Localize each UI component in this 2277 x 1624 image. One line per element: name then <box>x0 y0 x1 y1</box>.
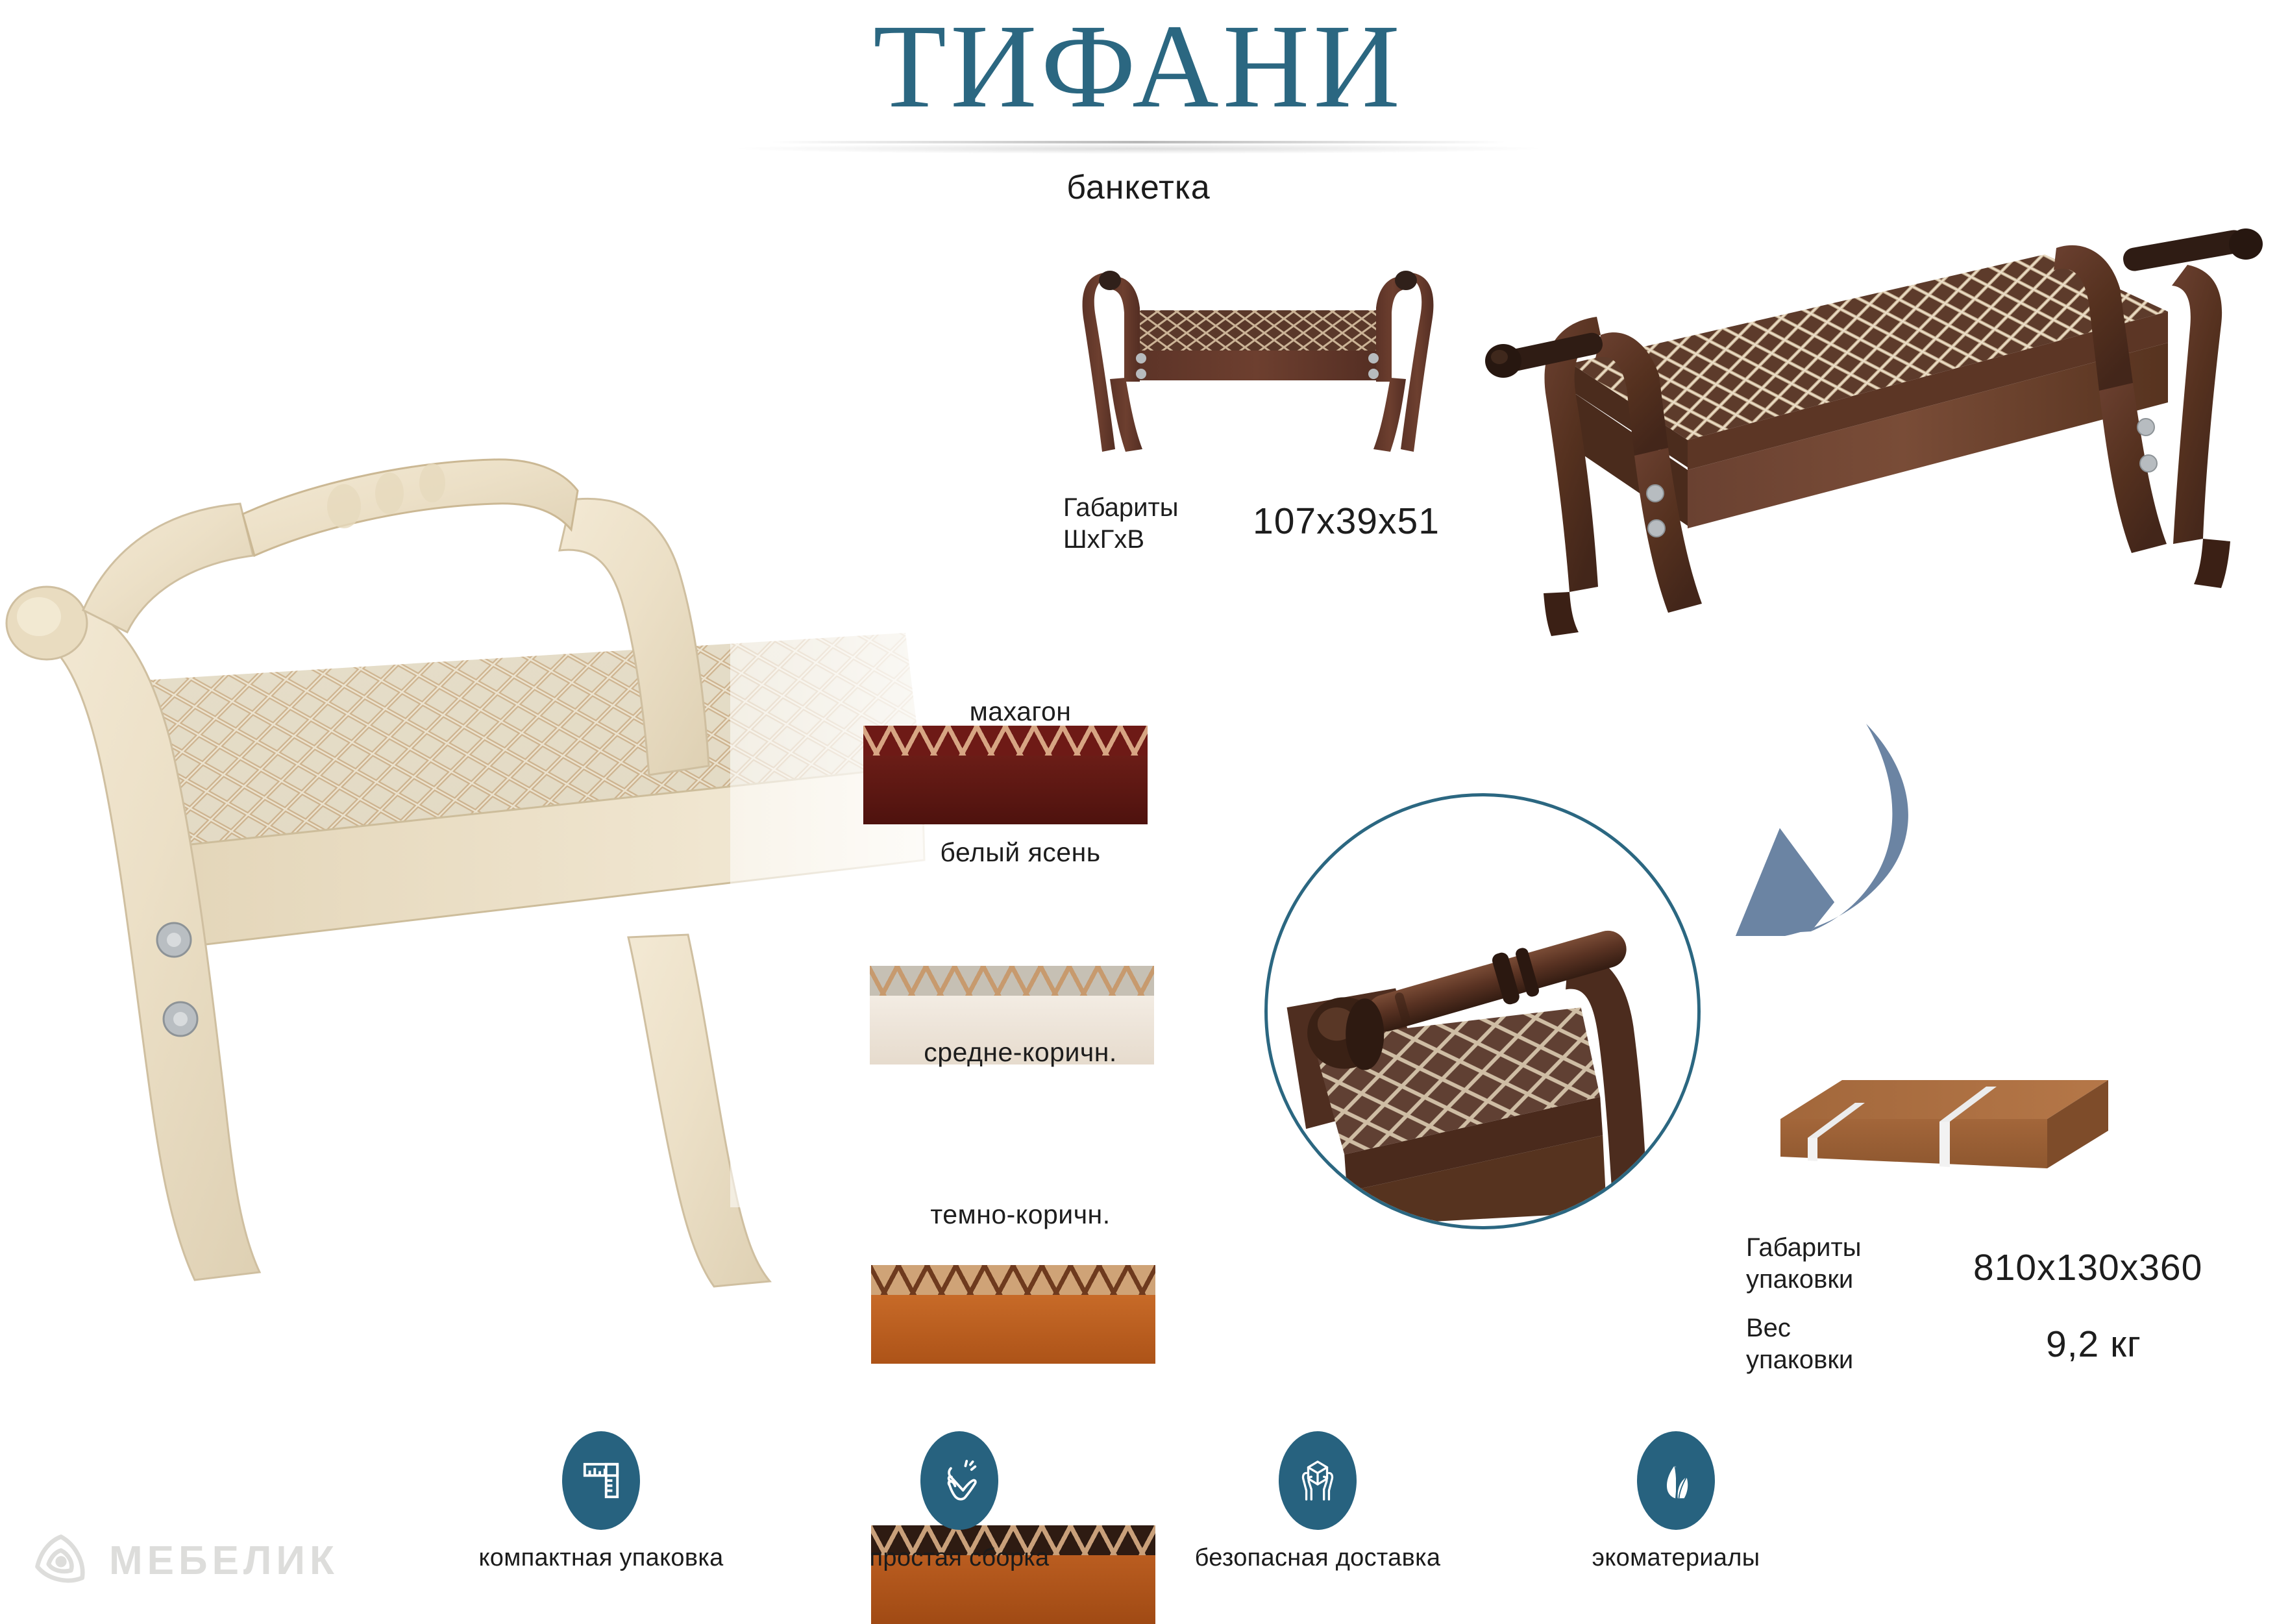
brand-name: МЕБЕЛИК <box>109 1538 339 1584</box>
trefoil-knot-icon <box>30 1529 92 1592</box>
finish-label-0: махагон <box>878 696 1163 727</box>
finish-fabric-1 <box>870 966 1154 996</box>
product-dimensions-value: 107x39x51 <box>1253 500 1440 543</box>
feature-label-2: безопасная доставка <box>1188 1544 1447 1572</box>
title-divider-shadow <box>739 143 1538 154</box>
finish-label-3: темно-коричн. <box>878 1200 1163 1230</box>
finish-fabric-2 <box>871 1265 1155 1295</box>
detail-closeup-circle <box>1264 793 1701 1229</box>
finish-fabric-0 <box>863 726 1148 756</box>
package-dimensions-value: 810x130x360 <box>1973 1246 2202 1289</box>
product-dimensions-label-line2: ШхГхВ <box>1063 524 1277 556</box>
feature-safe-delivery[interactable]: безопасная доставка <box>1188 1431 1447 1572</box>
hands-holding-box-icon <box>1279 1431 1357 1530</box>
curved-arrow-icon <box>1707 707 2012 1026</box>
package-dimensions-label: Габариты упаковки <box>1746 1232 1960 1296</box>
feature-eco-materials[interactable]: экоматериалы <box>1546 1431 1806 1572</box>
product-dimensions-label: Габариты ШхГхВ <box>1063 492 1277 556</box>
package-weight-label-line2: упаковки <box>1746 1344 1960 1376</box>
image-fade-overlay <box>730 571 1003 1207</box>
product-dimensions-label-line1: Габариты <box>1063 492 1277 524</box>
finish-swatch-2[interactable] <box>871 1265 1155 1364</box>
feature-label-3: экоматериалы <box>1546 1544 1806 1572</box>
feature-easy-assembly[interactable]: простая сборка <box>830 1431 1089 1572</box>
finish-wood-2 <box>871 1295 1155 1364</box>
front-view-bench-image <box>1070 254 1446 469</box>
brand-logo[interactable]: МЕБЕЛИК <box>30 1529 339 1592</box>
leaves-icon <box>1637 1431 1715 1530</box>
package-dimensions-label-line2: упаковки <box>1746 1264 1960 1296</box>
finger-snap-icon <box>920 1431 998 1530</box>
page-title: ТИФАНИ <box>0 6 2277 127</box>
feature-label-1: простая сборка <box>830 1544 1089 1572</box>
feature-row: компактная упаковка простая сборка <box>0 1431 2277 1572</box>
header-block: ТИФАНИ банкетка <box>0 6 2277 207</box>
package-dimensions-label-line1: Габариты <box>1746 1232 1960 1264</box>
finish-swatch-0[interactable] <box>863 726 1148 824</box>
ruler-icon <box>562 1431 640 1530</box>
feature-label-0: компактная упаковка <box>471 1544 731 1572</box>
main-product-image-dark-bench <box>1473 188 2272 636</box>
package-box-image <box>1745 1053 2108 1202</box>
finish-label-2: средне-коричн. <box>878 1037 1163 1068</box>
finish-wood-0 <box>863 756 1148 824</box>
feature-compact-packaging[interactable]: компактная упаковка <box>471 1431 731 1572</box>
finish-label-1: белый ясень <box>878 837 1163 868</box>
package-weight-label-line1: Вес <box>1746 1312 1960 1344</box>
package-weight-value: 9,2 кг <box>2046 1323 2141 1366</box>
package-weight-label: Вес упаковки <box>1746 1312 1960 1376</box>
